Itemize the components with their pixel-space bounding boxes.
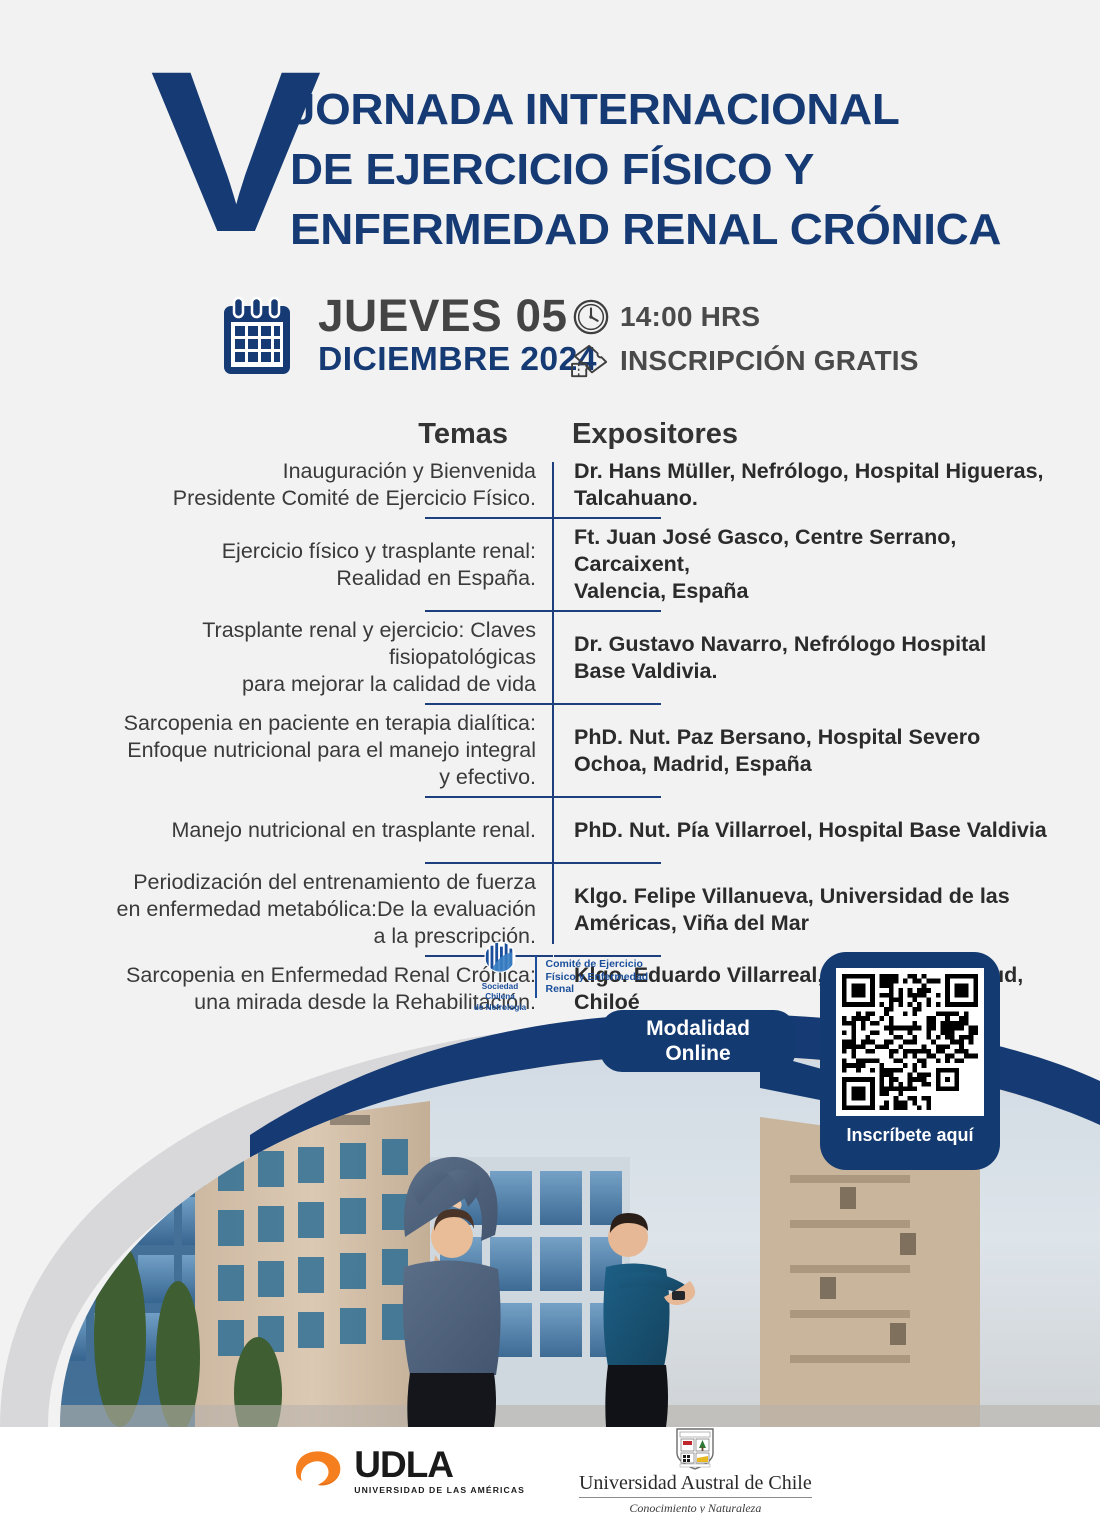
table-row: Manejo nutricional en trasplante renal.P… <box>60 803 1060 857</box>
registration-label: INSCRIPCIÓN GRATIS <box>620 345 919 377</box>
event-month-year: DICIEMBRE 2024 <box>318 339 597 379</box>
udla-tagline: UNIVERSIDAD DE LAS AMÉRICAS <box>354 1486 525 1495</box>
topic-cell: Trasplante renal y ejercicio: Claves fis… <box>60 617 552 698</box>
speaker-cell: Dr. Hans Müller, Nefrólogo, Hospital Hig… <box>552 458 1060 512</box>
ticket-icon <box>570 341 612 381</box>
row-separator <box>60 605 1060 617</box>
topic-line: Sarcopenia en Enfermedad Renal Crónica: <box>60 962 536 989</box>
topic-line: Presidente Comité de Ejercicio Físico. <box>60 485 536 512</box>
program-table: Temas Expositores Inauguración y Bienven… <box>60 418 1060 1016</box>
row-separator <box>60 857 1060 869</box>
kidney-bars-icon: Sociedad Chilena de Nefrología <box>470 941 530 1013</box>
row-separator <box>60 512 1060 524</box>
modality-badge: Modalidad Online <box>600 1010 796 1072</box>
table-row: Ejercicio físico y trasplante renal:Real… <box>60 524 1060 605</box>
committee-line-2: Físico y Enfermedad <box>546 971 649 984</box>
udla-name: UDLA <box>354 1446 525 1483</box>
speaker-cell: PhD. Nut. Pía Villarroel, Hospital Base … <box>552 803 1060 857</box>
topic-line: Sarcopenia en paciente en terapia dialít… <box>60 710 536 737</box>
speaker-cell: Dr. Gustavo Navarro, Nefrólogo HospitalB… <box>552 617 1060 698</box>
topic-line: y efectivo. <box>60 764 536 791</box>
event-day: JUEVES 05 <box>318 292 597 339</box>
poster-title: V JORNADA INTERNACIONAL DE EJERCICIO FÍS… <box>150 62 1010 282</box>
event-extra-info: 14:00 HRS INSCRIPCIÓN GRATIS <box>570 296 919 384</box>
speaker-cell: Klgo. Felipe Villanueva, Universidad de … <box>552 869 1060 950</box>
woman-figure <box>403 1157 501 1427</box>
poster-root: V JORNADA INTERNACIONAL DE EJERCICIO FÍS… <box>0 0 1100 1513</box>
committee-name: Comité de Ejercicio Físico y Enfermedad … <box>546 958 649 996</box>
speaker-line: Valencia, España <box>574 578 1060 605</box>
society-name-line-1: Sociedad Chilena <box>470 982 530 1001</box>
society-logo: Sociedad Chilena de Nefrología Comité de… <box>470 948 685 1006</box>
topic-line: Inauguración y Bienvenida <box>60 458 536 485</box>
speaker-line: Dr. Hans Müller, Nefrólogo, Hospital Hig… <box>574 458 1060 485</box>
speaker-line: Dr. Gustavo Navarro, Nefrólogo Hospital <box>574 631 1060 658</box>
table-row: Trasplante renal y ejercicio: Claves fis… <box>60 617 1060 698</box>
table-row: Periodización del entrenamiento de fuerz… <box>60 869 1060 950</box>
committee-line-1: Comité de Ejercicio <box>546 958 649 971</box>
uach-name: Universidad Austral de Chile <box>579 1472 812 1498</box>
title-lines: JORNADA INTERNACIONAL DE EJERCICIO FÍSIC… <box>290 80 1010 260</box>
speaker-line: PhD. Nut. Pía Villarroel, Hospital Base … <box>574 817 1060 844</box>
column-header-topics: Temas <box>418 418 508 451</box>
speaker-cell: Ft. Juan José Gasco, Centre Serrano, Car… <box>552 524 1060 605</box>
event-date: JUEVES 05 DICIEMBRE 2024 <box>318 292 591 379</box>
udla-text: UDLA UNIVERSIDAD DE LAS AMÉRICAS <box>354 1446 525 1495</box>
title-line-1: JORNADA INTERNACIONAL <box>290 80 1039 140</box>
topic-line: Ejercicio físico y trasplante renal: <box>60 538 536 565</box>
table-row: Inauguración y BienvenidaPresidente Comi… <box>60 458 1060 512</box>
topic-line: a la prescripción. <box>60 923 536 950</box>
column-header-speakers: Expositores <box>572 418 738 451</box>
qr-code-icon[interactable] <box>836 968 984 1116</box>
speaker-line: Ochoa, Madrid, España <box>574 751 1060 778</box>
modality-line-2: Online <box>665 1041 730 1066</box>
row-separator <box>60 698 1060 710</box>
udla-swirl-icon <box>288 1447 346 1493</box>
calendar-icon <box>218 296 296 378</box>
registration-row: INSCRIPCIÓN GRATIS <box>570 340 919 382</box>
logo-divider <box>535 956 537 998</box>
speaker-line: Américas, Viña del Mar <box>574 910 1060 937</box>
clock-icon <box>570 297 612 337</box>
speaker-line: PhD. Nut. Paz Bersano, Hospital Severo <box>574 724 1060 751</box>
topic-line: Enfoque nutricional para el manejo integ… <box>60 737 536 764</box>
topic-cell: Ejercicio físico y trasplante renal:Real… <box>60 524 552 605</box>
footer-logos: UDLA UNIVERSIDAD DE LAS AMÉRICAS <box>0 1427 1100 1513</box>
topic-cell: Inauguración y BienvenidaPresidente Comi… <box>60 458 552 512</box>
title-line-2: DE EJERCICIO FÍSICO Y <box>290 140 1039 200</box>
title-line-3: ENFERMEDAD RENAL CRÓNICA <box>290 200 1039 260</box>
uach-crest-icon <box>674 1425 716 1471</box>
modality-line-1: Modalidad <box>646 1016 750 1041</box>
event-time: 14:00 HRS <box>620 301 760 333</box>
topic-cell: Periodización del entrenamiento de fuerz… <box>60 869 552 950</box>
speaker-cell: PhD. Nut. Paz Bersano, Hospital SeveroOc… <box>552 710 1060 791</box>
committee-line-3: Renal <box>546 983 649 996</box>
speaker-line: Base Valdivia. <box>574 658 1060 685</box>
uach-tagline: Conocimiento y Naturaleza <box>579 1501 812 1513</box>
topic-line: Trasplante renal y ejercicio: Claves fis… <box>60 617 536 671</box>
qr-label: Inscríbete aquí <box>846 1125 973 1146</box>
topic-line: para mejorar la calidad de vida <box>60 671 536 698</box>
time-row: 14:00 HRS <box>570 296 919 338</box>
row-separator <box>60 791 1060 803</box>
date-info-bar: JUEVES 05 DICIEMBRE 2024 14:00 HRS <box>218 292 978 388</box>
topic-line: Realidad en España. <box>60 565 536 592</box>
table-row: Sarcopenia en paciente en terapia dialít… <box>60 710 1060 791</box>
topic-cell: Manejo nutricional en trasplante renal. <box>60 803 552 857</box>
topic-line: Periodización del entrenamiento de fuerz… <box>60 869 536 896</box>
topic-line: en enfermedad metabólica:De la evaluació… <box>60 896 536 923</box>
program-header: Temas Expositores <box>60 418 1060 458</box>
udla-logo: UDLA UNIVERSIDAD DE LAS AMÉRICAS <box>288 1446 525 1495</box>
speaker-line: Ft. Juan José Gasco, Centre Serrano, Car… <box>574 524 1060 578</box>
speaker-line: Klgo. Felipe Villanueva, Universidad de … <box>574 883 1060 910</box>
topic-cell: Sarcopenia en paciente en terapia dialít… <box>60 710 552 791</box>
topic-line: Manejo nutricional en trasplante renal. <box>60 817 536 844</box>
qr-registration-card[interactable]: Inscríbete aquí <box>820 952 1000 1170</box>
speaker-line: Talcahuano. <box>574 485 1060 512</box>
uach-logo: Universidad Austral de Chile Conocimient… <box>579 1425 812 1513</box>
